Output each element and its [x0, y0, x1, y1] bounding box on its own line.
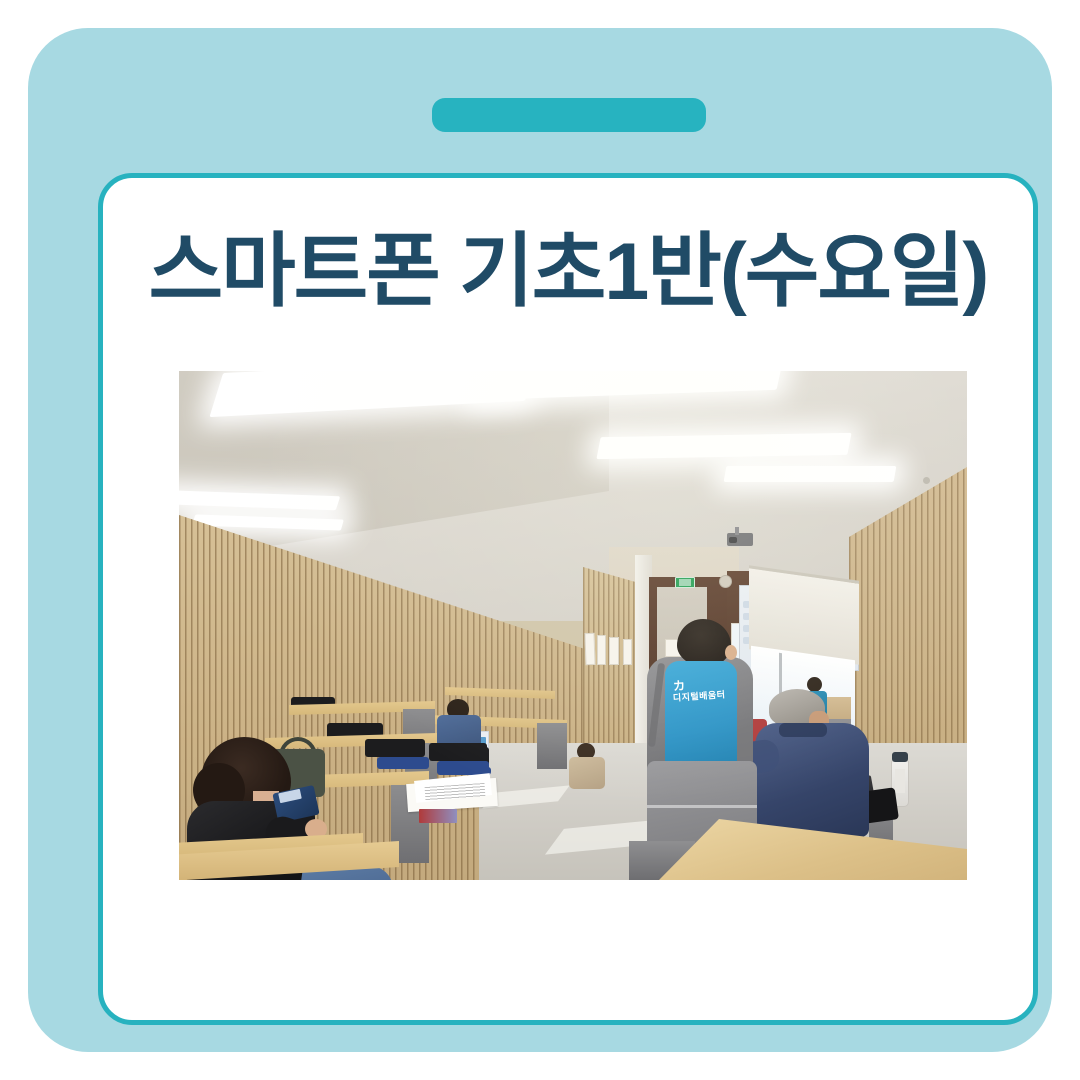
page-title: 스마트폰 기초1반(수요일): [103, 206, 1033, 323]
water-bottle-label: [895, 769, 905, 793]
wall-notice: [609, 637, 619, 665]
helper-head: [677, 619, 731, 667]
seated-senior-jacket: [755, 723, 869, 837]
seated-senior-collar: [779, 723, 827, 737]
chair-back: [429, 743, 487, 761]
projector-mount: [735, 527, 739, 535]
chair-seat: [377, 757, 429, 769]
water-bottle-cap: [892, 752, 908, 762]
poster-frame: 스마트폰 기초1반(수요일): [28, 28, 1052, 1052]
wall-notice: [597, 635, 606, 665]
sprinkler-head: [923, 477, 930, 484]
content-card: 스마트폰 기초1반(수요일): [98, 173, 1038, 1025]
book: [419, 809, 457, 823]
wall-notice: [584, 633, 595, 665]
decorative-tab: [432, 98, 706, 132]
desk-side-panel: [537, 723, 567, 769]
projector-lens: [729, 537, 737, 543]
exit-sign-glyph-icon: [679, 579, 691, 586]
ceiling-light-panel: [724, 466, 897, 482]
wall-speaker: [719, 575, 732, 588]
wall-notice: [623, 639, 632, 665]
instructor-head: [807, 677, 822, 692]
ceiling-light-panel: [596, 433, 851, 459]
chair-back: [365, 739, 425, 757]
helper-ear: [725, 645, 737, 660]
helper-shorts-trim: [647, 805, 757, 808]
classroom-photo: カ 디지털배움터: [179, 371, 967, 880]
front-row-learner-body: [569, 757, 605, 789]
helper-vest-logo-icon: カ: [673, 677, 686, 692]
